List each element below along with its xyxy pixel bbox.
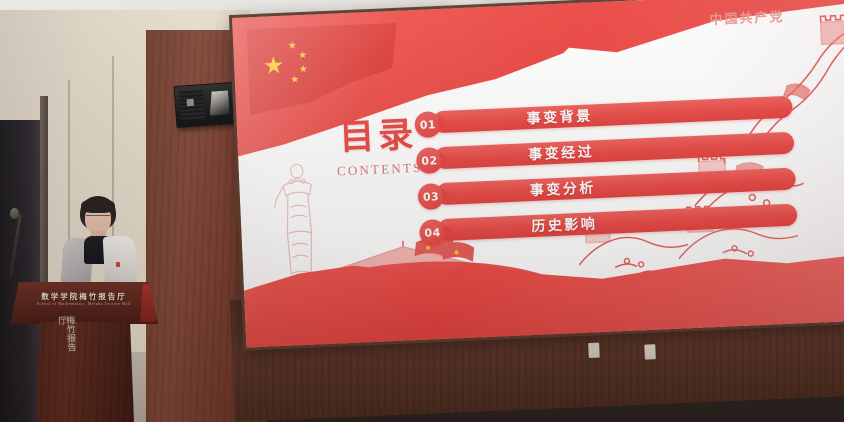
speaker-horn	[208, 90, 230, 115]
wall-outlet	[644, 344, 656, 359]
toc-number-badge: 01	[414, 111, 441, 138]
speaker-driver	[187, 99, 194, 106]
projection-screen: 中国共产党 目录 CONTENTS	[232, 0, 844, 348]
toc-number-badge: 03	[417, 183, 444, 210]
presenter-fringe	[81, 198, 115, 213]
lectern-top: 数学学院梅竹报告厅 School of Mathematics, Meizhu …	[10, 282, 158, 324]
toc-number-badge: 02	[416, 147, 443, 174]
glasses-icon	[86, 215, 110, 222]
wall-outlet	[588, 343, 600, 358]
lectern: 数学学院梅竹报告厅 School of Mathematics, Meizhu …	[10, 282, 158, 422]
wall-speaker	[174, 82, 237, 128]
toc-bar	[435, 168, 796, 206]
flag-star-small	[299, 65, 307, 73]
toc-item-label: 事变分析	[529, 176, 596, 201]
lectern-sign-chinese: 数学学院梅竹报告厅	[41, 293, 127, 301]
toc-bar	[437, 204, 798, 242]
toc-bar	[434, 132, 795, 170]
slide-surface: 中国共产党 目录 CONTENTS	[232, 0, 844, 348]
presenter-badge	[116, 262, 120, 267]
lecture-hall-photo: 中国共产党 目录 CONTENTS	[0, 0, 844, 422]
toc-item-label: 历史影响	[531, 212, 598, 237]
flag-star-small	[288, 41, 296, 49]
presenter-jacket-right	[103, 235, 138, 289]
flag-star-large	[264, 56, 284, 76]
lectern-emblem: 梅竹报告厅	[47, 315, 75, 356]
presenter	[58, 196, 138, 288]
lectern-sign-english: School of Mathematics, Meizhu Lecture Ha…	[37, 303, 131, 307]
contents-list: 01 事变背景 02 事变经过 03 事变分析 04 历史影响	[414, 92, 840, 254]
flag-star-small	[291, 75, 299, 83]
toc-item-label: 事变经过	[528, 140, 595, 165]
flag-star-small	[299, 51, 307, 59]
lectern-signage: 数学学院梅竹报告厅 School of Mathematics, Meizhu …	[18, 289, 150, 311]
toc-number-badge: 04	[419, 219, 446, 246]
toc-item-label: 事变背景	[526, 104, 593, 129]
